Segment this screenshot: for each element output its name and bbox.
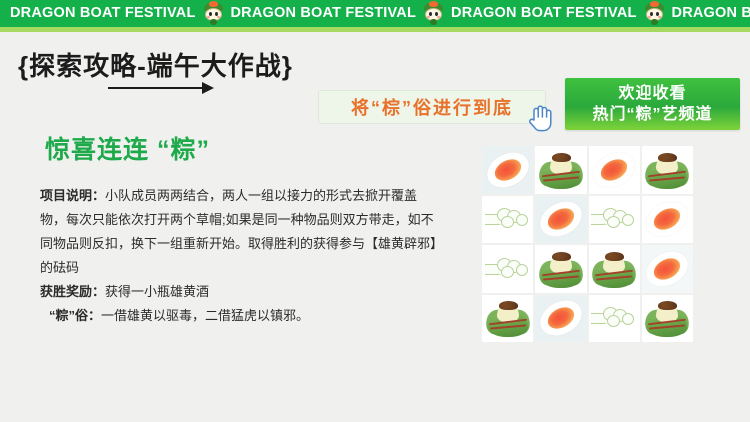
reward-paragraph: 获胜奖励：获得一小瓶雄黄酒 (40, 280, 440, 304)
grid-cell-cloud[interactable] (482, 245, 533, 293)
header-row: {探索攻略-端午大作战} 将“棕”俗进行到底 欢迎收看 热门“粽”艺频道 (0, 42, 750, 100)
grid-cell-zongzi[interactable] (482, 295, 533, 343)
grid-cell-zongzi[interactable] (589, 245, 640, 293)
grid-cell-cloud[interactable] (482, 196, 533, 244)
project-description-label: 项目说明： (40, 188, 105, 203)
memory-card-grid (482, 146, 693, 342)
page-title: {探索攻略-端午大作战} (18, 46, 293, 83)
description-block: 项目说明：小队成员两两结合，两人一组以接力的形式去掀开覆盖物，每次只能依次打开两… (40, 184, 440, 328)
custom-text: 一借雄黄以驱毒，二借猛虎以镇邪。 (101, 308, 309, 323)
custom-paragraph: “粽”俗：一借雄黄以驱毒，二借猛虎以镇邪。 (40, 304, 440, 328)
zongzi-mascot-icon (644, 2, 665, 25)
zongzi-mascot-icon (203, 2, 224, 25)
egg-yolk-icon (482, 146, 533, 194)
grid-cell-egg[interactable] (642, 245, 693, 293)
grid-cell-zongzi[interactable] (642, 295, 693, 343)
zongzi-icon (539, 153, 583, 189)
grid-cell-egg[interactable] (589, 146, 640, 194)
banner-text: DRAGON BOAT FESTIVAL (225, 0, 423, 27)
grid-cell-egg[interactable] (535, 295, 586, 343)
cloud-icon (485, 258, 531, 280)
custom-label: “粽”俗： (49, 308, 101, 323)
hand-pointer-icon (527, 104, 553, 132)
grid-cell-egg[interactable] (642, 196, 693, 244)
zongzi-icon (486, 301, 530, 337)
grid-cell-zongzi[interactable] (535, 245, 586, 293)
grid-cell-cloud[interactable] (589, 295, 640, 343)
egg-yolk-icon (535, 295, 586, 343)
banner-text: DRAGON BOAT FESTIVAL (666, 0, 750, 27)
cloud-icon (591, 208, 637, 230)
reward-label: 获胜奖励： (40, 284, 105, 299)
welcome-line-1: 欢迎收看 (618, 83, 686, 104)
zongzi-icon (539, 252, 583, 288)
welcome-channel-badge: 欢迎收看 热门“粽”艺频道 (565, 78, 740, 130)
egg-yolk-icon (642, 196, 693, 244)
cloud-icon (591, 307, 637, 329)
banner-underline (0, 27, 750, 32)
zongzi-icon (592, 252, 636, 288)
slogan-banner: 将“棕”俗进行到底 (318, 90, 546, 124)
zongzi-mascot-icon (423, 2, 444, 25)
banner-text: DRAGON BOAT FESTIVAL (445, 0, 643, 27)
section-heading: 惊喜连连 “粽” (45, 130, 210, 166)
egg-yolk-icon (535, 196, 586, 244)
banner-marquee-strip: DRAGON BOAT FESTIVALDRAGON BOAT FESTIVAL… (0, 0, 750, 27)
right-arrow-icon (108, 82, 214, 94)
project-description-paragraph: 项目说明：小队成员两两结合，两人一组以接力的形式去掀开覆盖物，每次只能依次打开两… (40, 184, 440, 280)
cloud-icon (485, 208, 531, 230)
top-banner: DRAGON BOAT FESTIVALDRAGON BOAT FESTIVAL… (0, 0, 750, 27)
grid-cell-egg[interactable] (535, 196, 586, 244)
grid-cell-zongzi[interactable] (535, 146, 586, 194)
slogan-text: 将“棕”俗进行到底 (351, 94, 513, 120)
banner-text: DRAGON BOAT FESTIVAL (4, 0, 202, 27)
welcome-line-2: 热门“粽”艺频道 (592, 104, 712, 125)
grid-cell-cloud[interactable] (589, 196, 640, 244)
reward-text: 获得一小瓶雄黄酒 (105, 284, 209, 299)
grid-cell-egg[interactable] (482, 146, 533, 194)
grid-cell-zongzi[interactable] (642, 146, 693, 194)
egg-yolk-icon (642, 245, 693, 293)
zongzi-icon (645, 301, 689, 337)
zongzi-icon (645, 153, 689, 189)
egg-yolk-icon (589, 146, 640, 194)
